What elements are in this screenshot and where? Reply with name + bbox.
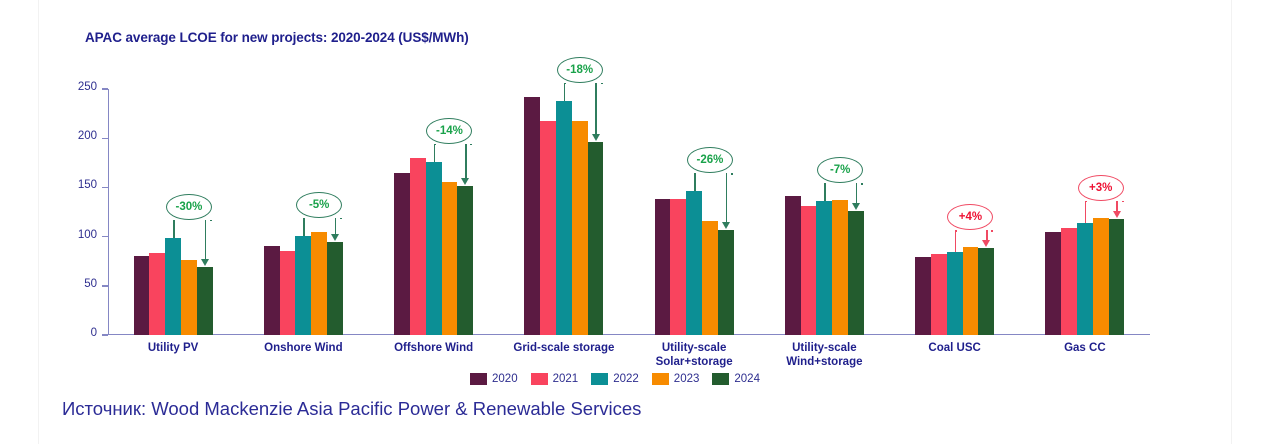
- legend-swatch: [652, 373, 669, 385]
- bar-2020[interactable]: [394, 173, 410, 335]
- bar-group: [629, 89, 759, 335]
- bar-2020[interactable]: [785, 196, 801, 335]
- bar-2024[interactable]: [588, 142, 604, 335]
- bar-group: [369, 89, 499, 335]
- legend-swatch: [470, 373, 487, 385]
- bar-2021[interactable]: [410, 158, 426, 335]
- legend-item[interactable]: 2022: [591, 373, 639, 385]
- x-axis-category-label: Utility-scaleWind+storage: [759, 341, 889, 369]
- chart-title: APAC average LCOE for new projects: 2020…: [85, 30, 469, 45]
- source-caption: Источник: Wood Mackenzie Asia Pacific Po…: [62, 398, 641, 420]
- slide-canvas: APAC average LCOE for new projects: 2020…: [0, 0, 1270, 444]
- bar-2023[interactable]: [1093, 218, 1109, 335]
- bar-2020[interactable]: [524, 97, 540, 335]
- x-axis-category-line: Coal USC: [890, 341, 1020, 355]
- bar-2023[interactable]: [181, 260, 197, 335]
- annotation-bubble: -18%: [557, 57, 603, 83]
- y-tick-label: 150: [78, 179, 97, 191]
- x-axis-category-label: Utility PV: [108, 341, 238, 369]
- chart-legend: 20202021202220232024: [45, 373, 1185, 385]
- bar-2024[interactable]: [848, 211, 864, 335]
- plot-area: 250200150100500 -30%-5%-14%-18%-26%-7%+4…: [108, 89, 1150, 335]
- bar-2022[interactable]: [816, 201, 832, 335]
- annotation-end-hook: [601, 83, 603, 85]
- bar-2024[interactable]: [327, 242, 343, 335]
- x-axis-category-line: Utility PV: [108, 341, 238, 355]
- bar-2020[interactable]: [1045, 232, 1061, 335]
- legend-item[interactable]: 2020: [470, 373, 518, 385]
- x-axis-category-label: Onshore Wind: [238, 341, 368, 369]
- y-tick-label: 100: [78, 229, 97, 241]
- x-axis-category-line: Onshore Wind: [238, 341, 368, 355]
- bar-2022[interactable]: [1077, 223, 1093, 335]
- legend-label: 2021: [553, 373, 579, 385]
- x-axis-labels: Utility PVOnshore WindOffshore WindGrid-…: [108, 341, 1150, 369]
- legend-label: 2020: [492, 373, 518, 385]
- x-axis-category-line: Grid-scale storage: [499, 341, 629, 355]
- bar-2023[interactable]: [442, 182, 458, 336]
- legend-swatch: [712, 373, 729, 385]
- bar-2024[interactable]: [457, 186, 473, 335]
- legend-label: 2024: [734, 373, 760, 385]
- bar-2022[interactable]: [426, 162, 442, 335]
- bar-2020[interactable]: [655, 199, 671, 335]
- bar-2024[interactable]: [1109, 219, 1125, 335]
- bar-group-bars: [1045, 89, 1124, 335]
- bar-group: [499, 89, 629, 335]
- bar-2024[interactable]: [197, 267, 213, 335]
- x-axis-category-label: Utility-scaleSolar+storage: [629, 341, 759, 369]
- y-tick-label: 0: [91, 327, 97, 339]
- x-axis-category-label: Coal USC: [890, 341, 1020, 369]
- bar-2022[interactable]: [947, 252, 963, 335]
- y-tick-label: 200: [78, 130, 97, 142]
- y-tick-label: 250: [78, 81, 97, 93]
- bar-group-bars: [524, 89, 603, 335]
- bar-2021[interactable]: [670, 199, 686, 335]
- bar-2023[interactable]: [702, 221, 718, 335]
- bar-2022[interactable]: [165, 238, 181, 335]
- legend-label: 2022: [613, 373, 639, 385]
- bar-group-bars: [264, 89, 343, 335]
- bar-2021[interactable]: [149, 253, 165, 335]
- legend-item[interactable]: 2023: [652, 373, 700, 385]
- bar-group: [108, 89, 238, 335]
- bar-2022[interactable]: [686, 191, 702, 335]
- annotation-start-hook: [564, 83, 566, 85]
- bar-group-bars: [915, 89, 994, 335]
- bar-group: [1020, 89, 1150, 335]
- x-axis-category-line: Wind+storage: [759, 355, 889, 369]
- bar-2024[interactable]: [978, 248, 994, 335]
- x-axis-category-label: Offshore Wind: [369, 341, 499, 369]
- bar-2020[interactable]: [134, 256, 150, 335]
- x-axis-category-label: Gas CC: [1020, 341, 1150, 369]
- slide-left-rule: [38, 0, 39, 444]
- bar-group-bars: [785, 89, 864, 335]
- bar-group-bars: [394, 89, 473, 335]
- bar-group-bars: [134, 89, 213, 335]
- legend-item[interactable]: 2024: [712, 373, 760, 385]
- bar-2022[interactable]: [295, 236, 311, 335]
- bar-2021[interactable]: [540, 121, 556, 335]
- chart-container: APAC average LCOE for new projects: 2020…: [45, 8, 1185, 390]
- slide-right-rule: [1231, 0, 1232, 444]
- legend-item[interactable]: 2021: [531, 373, 579, 385]
- bar-2020[interactable]: [915, 257, 931, 335]
- bar-2021[interactable]: [931, 254, 947, 335]
- x-axis-category-line: Utility-scale: [759, 341, 889, 355]
- bar-2022[interactable]: [556, 101, 572, 335]
- legend-swatch: [591, 373, 608, 385]
- bar-2023[interactable]: [963, 247, 979, 335]
- legend-swatch: [531, 373, 548, 385]
- bar-group: [238, 89, 368, 335]
- x-axis-category-line: Gas CC: [1020, 341, 1150, 355]
- legend-label: 2023: [674, 373, 700, 385]
- bar-2023[interactable]: [572, 121, 588, 335]
- bar-group-bars: [655, 89, 734, 335]
- bar-2021[interactable]: [1061, 228, 1077, 335]
- bar-2023[interactable]: [311, 232, 327, 335]
- bar-group: [890, 89, 1020, 335]
- x-axis-category-line: Solar+storage: [629, 355, 759, 369]
- x-axis-category-line: Utility-scale: [629, 341, 759, 355]
- bar-2020[interactable]: [264, 246, 280, 335]
- bar-2021[interactable]: [801, 206, 817, 335]
- bar-groups: [108, 89, 1150, 335]
- bar-2021[interactable]: [280, 251, 296, 335]
- x-axis-category-line: Offshore Wind: [369, 341, 499, 355]
- bar-group: [759, 89, 889, 335]
- y-tick-label: 50: [84, 278, 97, 290]
- x-axis-category-label: Grid-scale storage: [499, 341, 629, 369]
- bar-2024[interactable]: [718, 230, 734, 335]
- bar-2023[interactable]: [832, 200, 848, 335]
